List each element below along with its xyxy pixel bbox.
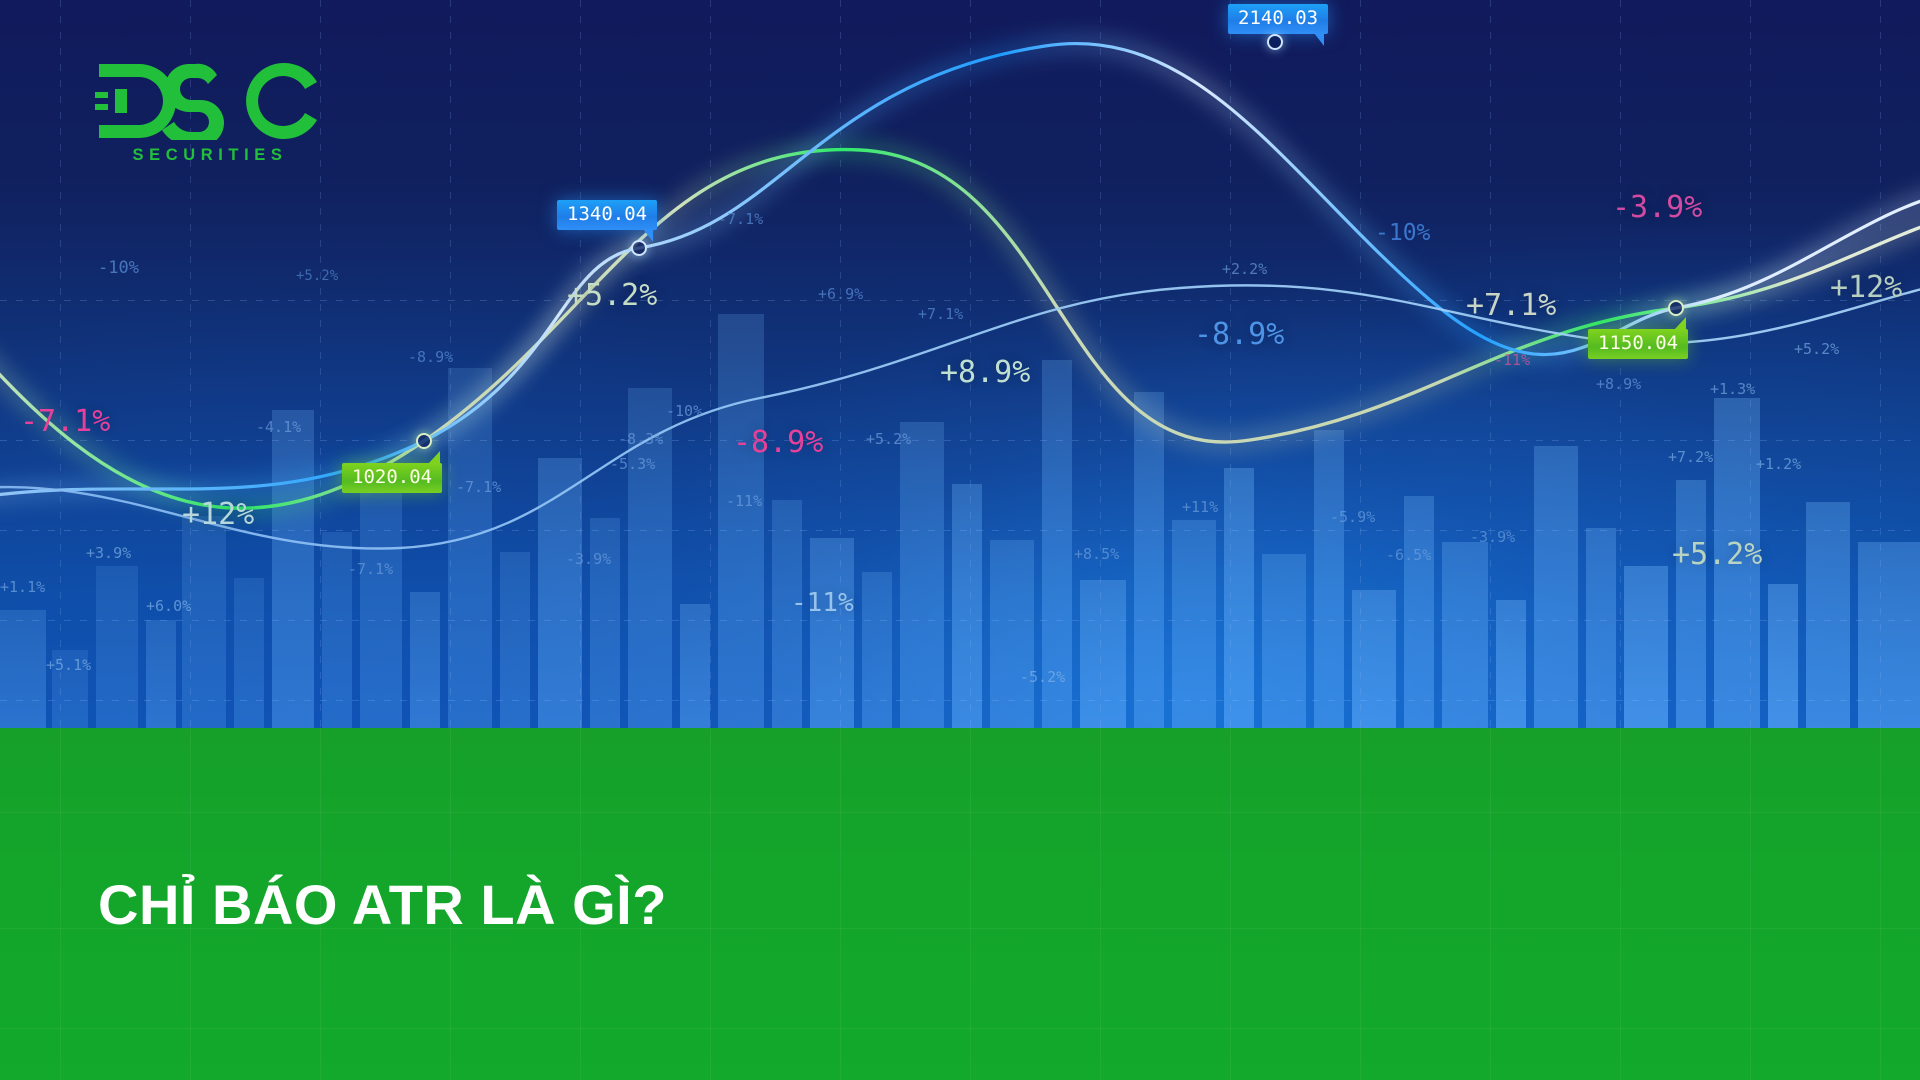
percent-label: -10% — [98, 258, 139, 278]
percent-label: -3.9% — [1470, 528, 1515, 546]
band-gridline-vertical — [1620, 728, 1621, 1080]
percent-label: +7.2% — [1668, 448, 1713, 466]
percent-label: +7.1% — [918, 305, 963, 323]
percent-label: -8.9% — [733, 425, 823, 460]
percent-label: -8.3% — [618, 430, 663, 448]
percent-label: +5.2% — [866, 430, 911, 448]
value-tooltip[interactable]: 1340.04 — [557, 200, 657, 230]
percent-label: -7.1% — [20, 404, 110, 439]
value-tooltip[interactable]: 1150.04 — [1588, 329, 1688, 359]
logo-tagline: SECURITIES — [95, 146, 325, 165]
percent-label: +6.9% — [818, 285, 863, 303]
dsc-wordmark-icon — [95, 62, 325, 140]
percent-label: -10% — [666, 402, 702, 420]
band-gridline-vertical — [1100, 728, 1101, 1080]
percent-label: -7.1% — [456, 478, 501, 496]
percent-label: -5.9% — [1330, 508, 1375, 526]
percent-label: +8.9% — [1596, 375, 1641, 393]
percent-label: -11% — [791, 588, 854, 618]
band-gridline-vertical — [710, 728, 711, 1080]
percent-label: +12% — [1830, 270, 1902, 305]
value-tooltip[interactable]: 2140.03 — [1228, 4, 1328, 34]
data-point-node[interactable] — [1267, 34, 1283, 50]
tooltip-tail-icon — [428, 451, 440, 464]
percent-label: +5.2% — [1794, 340, 1839, 358]
data-point-node[interactable] — [416, 433, 432, 449]
band-gridline-vertical — [1490, 728, 1491, 1080]
band-gridline-vertical — [60, 728, 61, 1080]
percent-label: +2.2% — [1222, 260, 1267, 278]
chart-background: -7.1%+12%+5.2%+8.9%-8.9%-11%-8.9%-10%+7.… — [0, 0, 1920, 728]
band-gridline-vertical — [1230, 728, 1231, 1080]
band-gridline-vertical — [1750, 728, 1751, 1080]
percent-label: +12% — [182, 497, 254, 532]
percent-label: +5.1% — [46, 656, 91, 674]
tooltip-tail-icon — [1674, 317, 1686, 330]
band-gridline-horizontal — [0, 1028, 1920, 1029]
percent-label: -7.1% — [348, 560, 393, 578]
data-point-node[interactable] — [631, 240, 647, 256]
percent-label: +8.9% — [940, 355, 1030, 390]
percent-label: -8.9% — [408, 348, 453, 366]
percent-label: +7.1% — [1466, 288, 1556, 323]
band-gridline-vertical — [1360, 728, 1361, 1080]
percent-label: +6.0% — [146, 597, 191, 615]
percent-label: -5.2% — [1020, 668, 1065, 686]
percent-label: -7.1% — [718, 210, 763, 228]
percent-label: -5.3% — [610, 455, 655, 473]
percent-label: -4.1% — [256, 418, 301, 436]
percent-label: +5.2% — [1672, 537, 1762, 572]
band-gridline-vertical — [840, 728, 841, 1080]
value-tooltip[interactable]: 1020.04 — [342, 463, 442, 493]
percent-label: +1.3% — [1710, 380, 1755, 398]
percent-label: +1.2% — [1756, 455, 1801, 473]
percent-label: +5.2% — [296, 268, 338, 284]
percent-label: -3.9% — [566, 550, 611, 568]
band-gridline-vertical — [1880, 728, 1881, 1080]
percent-label: -3.9% — [1612, 190, 1702, 225]
percent-label: -6.5% — [1386, 546, 1431, 564]
percent-label: +11% — [1182, 498, 1218, 516]
hero-banner: -7.1%+12%+5.2%+8.9%-8.9%-11%-8.9%-10%+7.… — [0, 0, 1920, 1080]
band-gridline-vertical — [970, 728, 971, 1080]
percent-label: +5.2% — [567, 278, 657, 313]
tooltip-tail-icon — [1314, 33, 1324, 46]
percent-label: -8.9% — [1194, 317, 1284, 352]
percent-label: -10% — [1375, 220, 1430, 246]
dsc-logo[interactable]: SECURITIES — [95, 62, 325, 165]
percent-label: +1.1% — [0, 578, 45, 596]
percent-label: +8.5% — [1074, 545, 1119, 563]
percent-label: +3.9% — [86, 544, 131, 562]
tooltip-tail-icon — [643, 229, 653, 242]
data-point-node[interactable] — [1668, 300, 1684, 316]
percent-label: -11% — [1494, 351, 1530, 369]
band-gridline-horizontal — [0, 812, 1920, 813]
percent-label: -11% — [726, 492, 762, 510]
page-title: CHỈ BÁO ATR LÀ GÌ? — [98, 872, 667, 937]
